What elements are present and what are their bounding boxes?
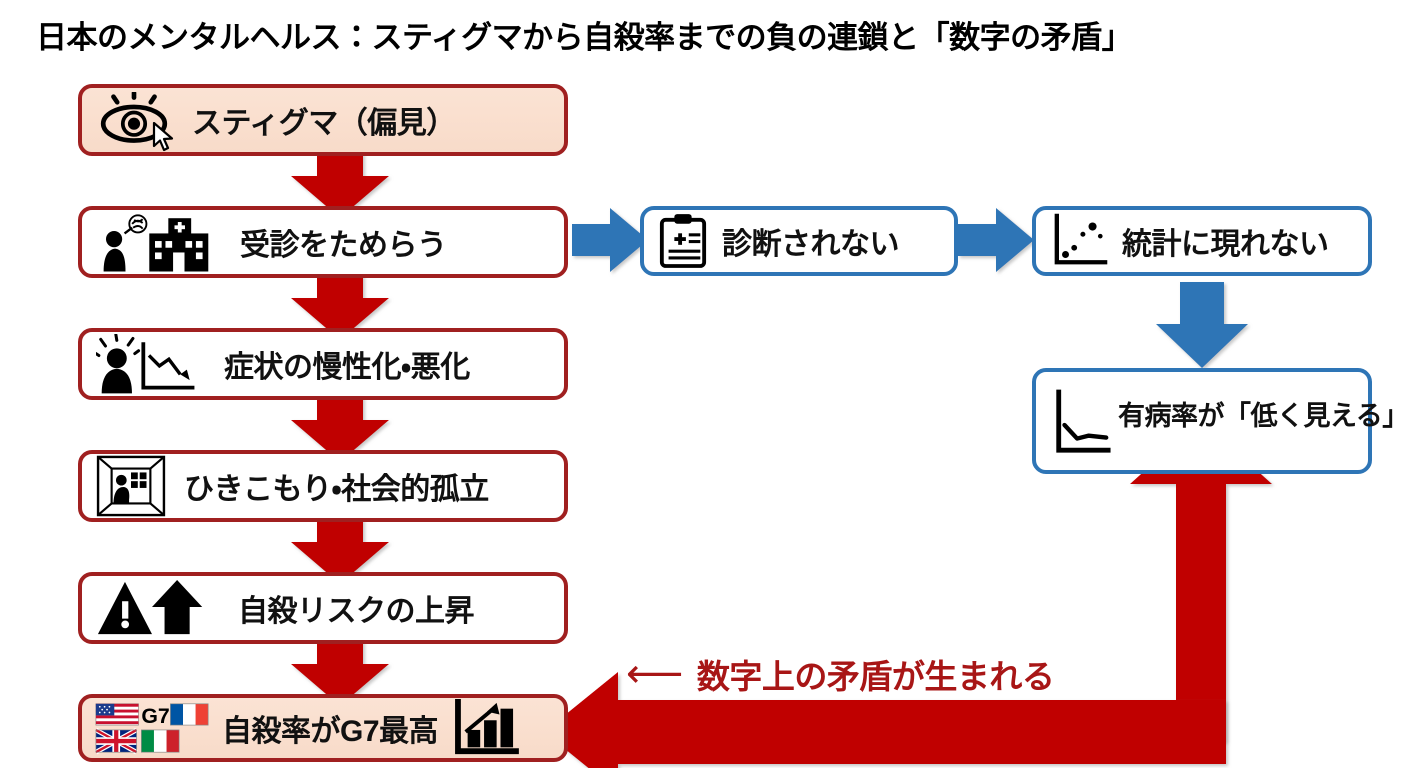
warning-up-arrow-icon (96, 578, 208, 638)
node-label: 症状の慢性化・悪化 (224, 342, 470, 386)
node-label: 統計に現れない (1122, 219, 1329, 263)
node-social-isolation[interactable]: ひきこもり・社会的孤立 (78, 450, 568, 522)
blue-right-arrow-hesitate-to-undiagnosed (572, 208, 648, 272)
node-hesitate-to-seek-care[interactable]: 受診をためらう (78, 206, 568, 278)
feedback-annotation: ⟵ 数字上の矛盾が生まれる (626, 650, 1054, 698)
node-label: 受診をためらう (240, 220, 447, 264)
clipboard-icon (658, 213, 708, 269)
person-hospital-icon (96, 212, 214, 272)
node-label: 有病率が「低く見える」 (1118, 394, 1408, 433)
node-g7-highest-suicide-rate[interactable]: G7 (78, 694, 568, 762)
bar-chart-up-icon (452, 699, 520, 757)
node-label: ひきこもり・社会的孤立 (184, 464, 489, 508)
node-undiagnosed[interactable]: 診断されない (640, 206, 958, 276)
left-arrow-icon: ⟵ (626, 654, 683, 694)
scatter-plot-icon (1050, 213, 1110, 269)
mouse-pointer-icon (152, 122, 174, 157)
person-in-room-icon (96, 455, 166, 517)
node-prevalence-looks-low[interactable]: 有病率が「低く見える」 (1032, 368, 1372, 474)
node-label: スティグマ（偏見） (192, 98, 456, 142)
g7-icon-text: G7 (141, 704, 169, 728)
blue-right-arrow-undiagnosed-to-notinstats (958, 208, 1034, 272)
declining-line-chart-icon (1050, 386, 1112, 464)
node-not-in-statistics[interactable]: 統計に現れない (1032, 206, 1372, 276)
g7-flags-icon: G7 (94, 698, 212, 758)
feedback-label-text: 数字上の矛盾が生まれる (697, 650, 1055, 698)
stressed-person-declining-chart-icon (96, 334, 202, 394)
node-symptom-worsening[interactable]: 症状の慢性化・悪化 (78, 328, 568, 400)
node-label: 診断されない (722, 219, 899, 263)
node-suicide-risk-rise[interactable]: 自殺リスクの上昇 (78, 572, 568, 644)
diagram-canvas: 日本のメンタルヘルス：スティグマから自殺率までの負の連鎖と「数字の矛盾」 (0, 0, 1408, 768)
node-label: 自殺リスクの上昇 (238, 586, 474, 630)
node-label: 自殺率がG7最高 (222, 706, 438, 750)
blue-down-arrow-notinstats-to-lowprevalence (1156, 282, 1248, 368)
